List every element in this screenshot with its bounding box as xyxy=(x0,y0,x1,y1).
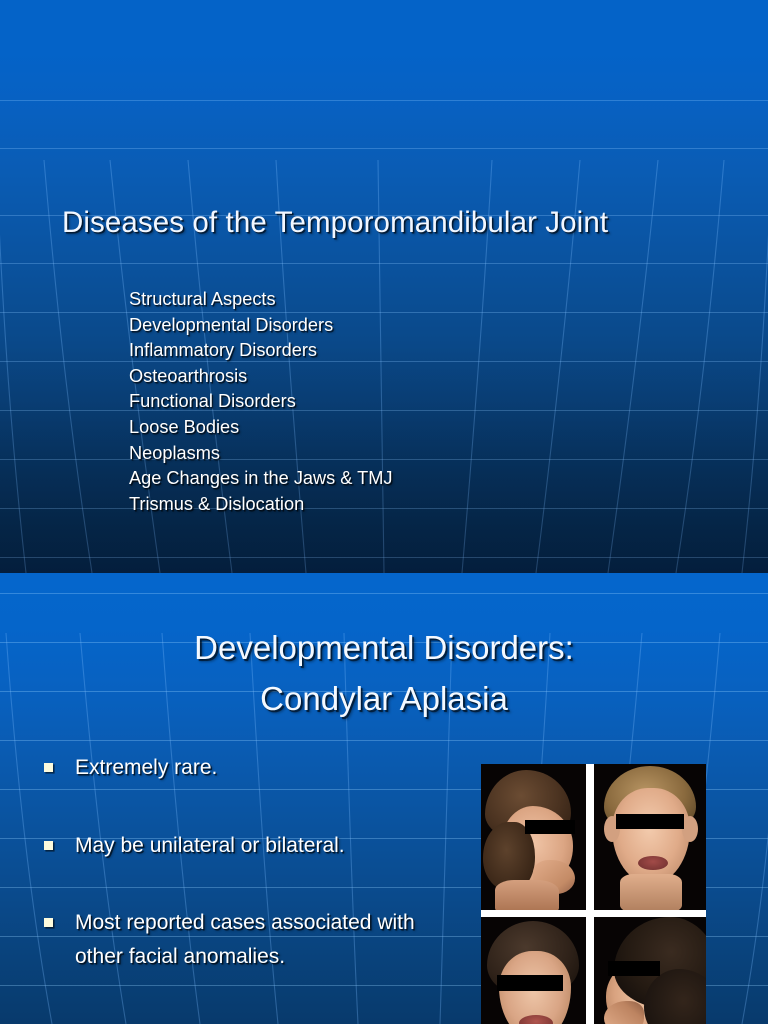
list-item-label: May be unilateral or bilateral. xyxy=(75,834,345,857)
list-item: Most reported cases associated with othe… xyxy=(42,906,422,973)
list-item-label: Extremely rare. xyxy=(75,756,217,779)
eye-censor-bar xyxy=(525,820,575,834)
photo-panel-child-frontal xyxy=(594,764,706,910)
slide-2-title: Developmental Disorders: Condylar Aplasi… xyxy=(0,622,768,724)
photo-panel-child-frontal-dark-hair xyxy=(481,917,586,1024)
slide-2-bullet-list: Extremely rare. May be unilateral or bil… xyxy=(42,751,422,973)
photo-grid xyxy=(481,764,706,1024)
agenda-item: Trismus & Dislocation xyxy=(129,492,689,518)
neck-shape xyxy=(495,880,559,910)
eye-censor-bar xyxy=(497,975,563,991)
eye-censor-bar xyxy=(608,961,660,976)
slide-2-title-line-1: Developmental Disorders: xyxy=(0,622,768,673)
photo-panel-child-profile-left xyxy=(594,917,706,1024)
agenda-item: Functional Disorders xyxy=(129,389,689,415)
square-bullet-icon xyxy=(44,841,53,850)
square-bullet-icon xyxy=(44,763,53,772)
agenda-item: Neoplasms xyxy=(129,441,689,467)
list-item: Extremely rare. xyxy=(42,751,422,785)
slide-1: Diseases of the Temporomandibular Joint … xyxy=(0,0,768,573)
slide-2-title-line-2: Condylar Aplasia xyxy=(0,673,768,724)
slide-2: Developmental Disorders: Condylar Aplasi… xyxy=(0,573,768,1024)
slide-1-agenda-list: Structural Aspects Developmental Disorde… xyxy=(129,287,689,517)
clinical-photo-collage xyxy=(481,764,706,1024)
ear-right-shape xyxy=(682,816,698,842)
agenda-item: Osteoarthrosis xyxy=(129,364,689,390)
agenda-item: Inflammatory Disorders xyxy=(129,338,689,364)
mouth-shape xyxy=(638,856,668,870)
slide-1-title: Diseases of the Temporomandibular Joint xyxy=(62,206,722,240)
agenda-item: Age Changes in the Jaws & TMJ xyxy=(129,466,689,492)
photo-panel-child-profile-right xyxy=(481,764,586,910)
list-item-label: Most reported cases associated with othe… xyxy=(75,911,415,968)
eye-censor-bar xyxy=(616,814,684,829)
agenda-item: Structural Aspects xyxy=(129,287,689,313)
list-item: May be unilateral or bilateral. xyxy=(42,829,422,863)
agenda-item: Developmental Disorders xyxy=(129,313,689,339)
agenda-item: Loose Bodies xyxy=(129,415,689,441)
mouth-shape xyxy=(519,1015,553,1024)
square-bullet-icon xyxy=(44,918,53,927)
slide-document-page: Diseases of the Temporomandibular Joint … xyxy=(0,0,768,1024)
neck-shape xyxy=(620,874,682,910)
